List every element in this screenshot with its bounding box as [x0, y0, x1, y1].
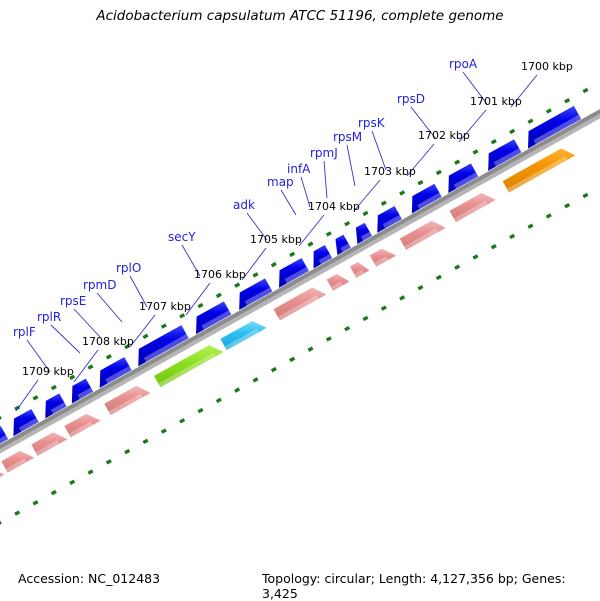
position-leader: [299, 215, 324, 246]
gene-feature-rpmJ[interactable]: [350, 262, 370, 278]
position-label: 1707 kbp: [139, 300, 191, 313]
position-label: 1706 kbp: [194, 268, 246, 281]
gene-feature-infA[interactable]: [327, 274, 350, 291]
rna-marker-track-upper: [0, 60, 600, 440]
position-label: 1704 kbp: [308, 200, 360, 213]
leader-line-rpmD: [97, 293, 122, 322]
position-leader: [16, 380, 38, 411]
leader-line-map: [281, 190, 296, 215]
gene-feature-rpmD[interactable]: [64, 414, 100, 438]
leader-line-rpsM: [347, 145, 355, 186]
leader-line-rpsE: [74, 309, 100, 337]
position-label: 1700 kbp: [521, 60, 573, 73]
gene-feature-rplR[interactable]: [1, 451, 34, 473]
gene-feature-rpsM[interactable]: [370, 249, 396, 267]
gene-label-rpsM[interactable]: rpsM: [333, 130, 362, 144]
gene-label-rplO[interactable]: rplO: [116, 261, 141, 275]
position-label: 1701 kbp: [470, 95, 522, 108]
genome-stats-text: Topology: circular; Length: 4,127,356 bp…: [262, 571, 600, 601]
position-label: 1703 kbp: [364, 165, 416, 178]
rna-marker-track-lower: [0, 165, 600, 545]
gene-label-adk[interactable]: adk: [233, 198, 255, 212]
gene-label-rpmD[interactable]: rpmD: [83, 278, 116, 292]
gene-label-infA[interactable]: infA: [287, 162, 311, 176]
position-leader: [74, 350, 98, 382]
position-label: 1702 kbp: [418, 129, 470, 142]
gene-label-rpmJ[interactable]: rpmJ: [310, 146, 338, 160]
gene-label-rpsK[interactable]: rpsK: [358, 116, 386, 130]
position-label: 1708 kbp: [82, 335, 134, 348]
gene-label-rpsE[interactable]: rpsE: [60, 294, 86, 308]
gene-label-rpsD[interactable]: rpsD: [397, 92, 425, 106]
position-label: 1705 kbp: [250, 233, 302, 246]
position-label: 1709 kbp: [22, 365, 74, 378]
accession-text: Accession: NC_012483: [18, 571, 160, 586]
genome-viewer: Acidobacterium capsulatum ATCC 51196, co…: [0, 0, 600, 600]
genome-map-canvas: rpoArpsDrpsKrpsMrpmJinfAmapadksecYrplOrp…: [0, 0, 600, 600]
gene-feature-rpsE[interactable]: [31, 432, 67, 456]
gene-label-rplF[interactable]: rplF: [13, 325, 36, 339]
gene-feature-rplF[interactable]: [0, 467, 4, 493]
gene-label-secY[interactable]: secY: [168, 230, 196, 244]
gene-label-rplR[interactable]: rplR: [37, 310, 61, 324]
leader-line-rplR: [51, 325, 80, 353]
gene-label-rpoA[interactable]: rpoA: [449, 57, 478, 71]
leader-line-rpmJ: [324, 161, 327, 198]
gene-label-map[interactable]: map: [267, 175, 294, 189]
